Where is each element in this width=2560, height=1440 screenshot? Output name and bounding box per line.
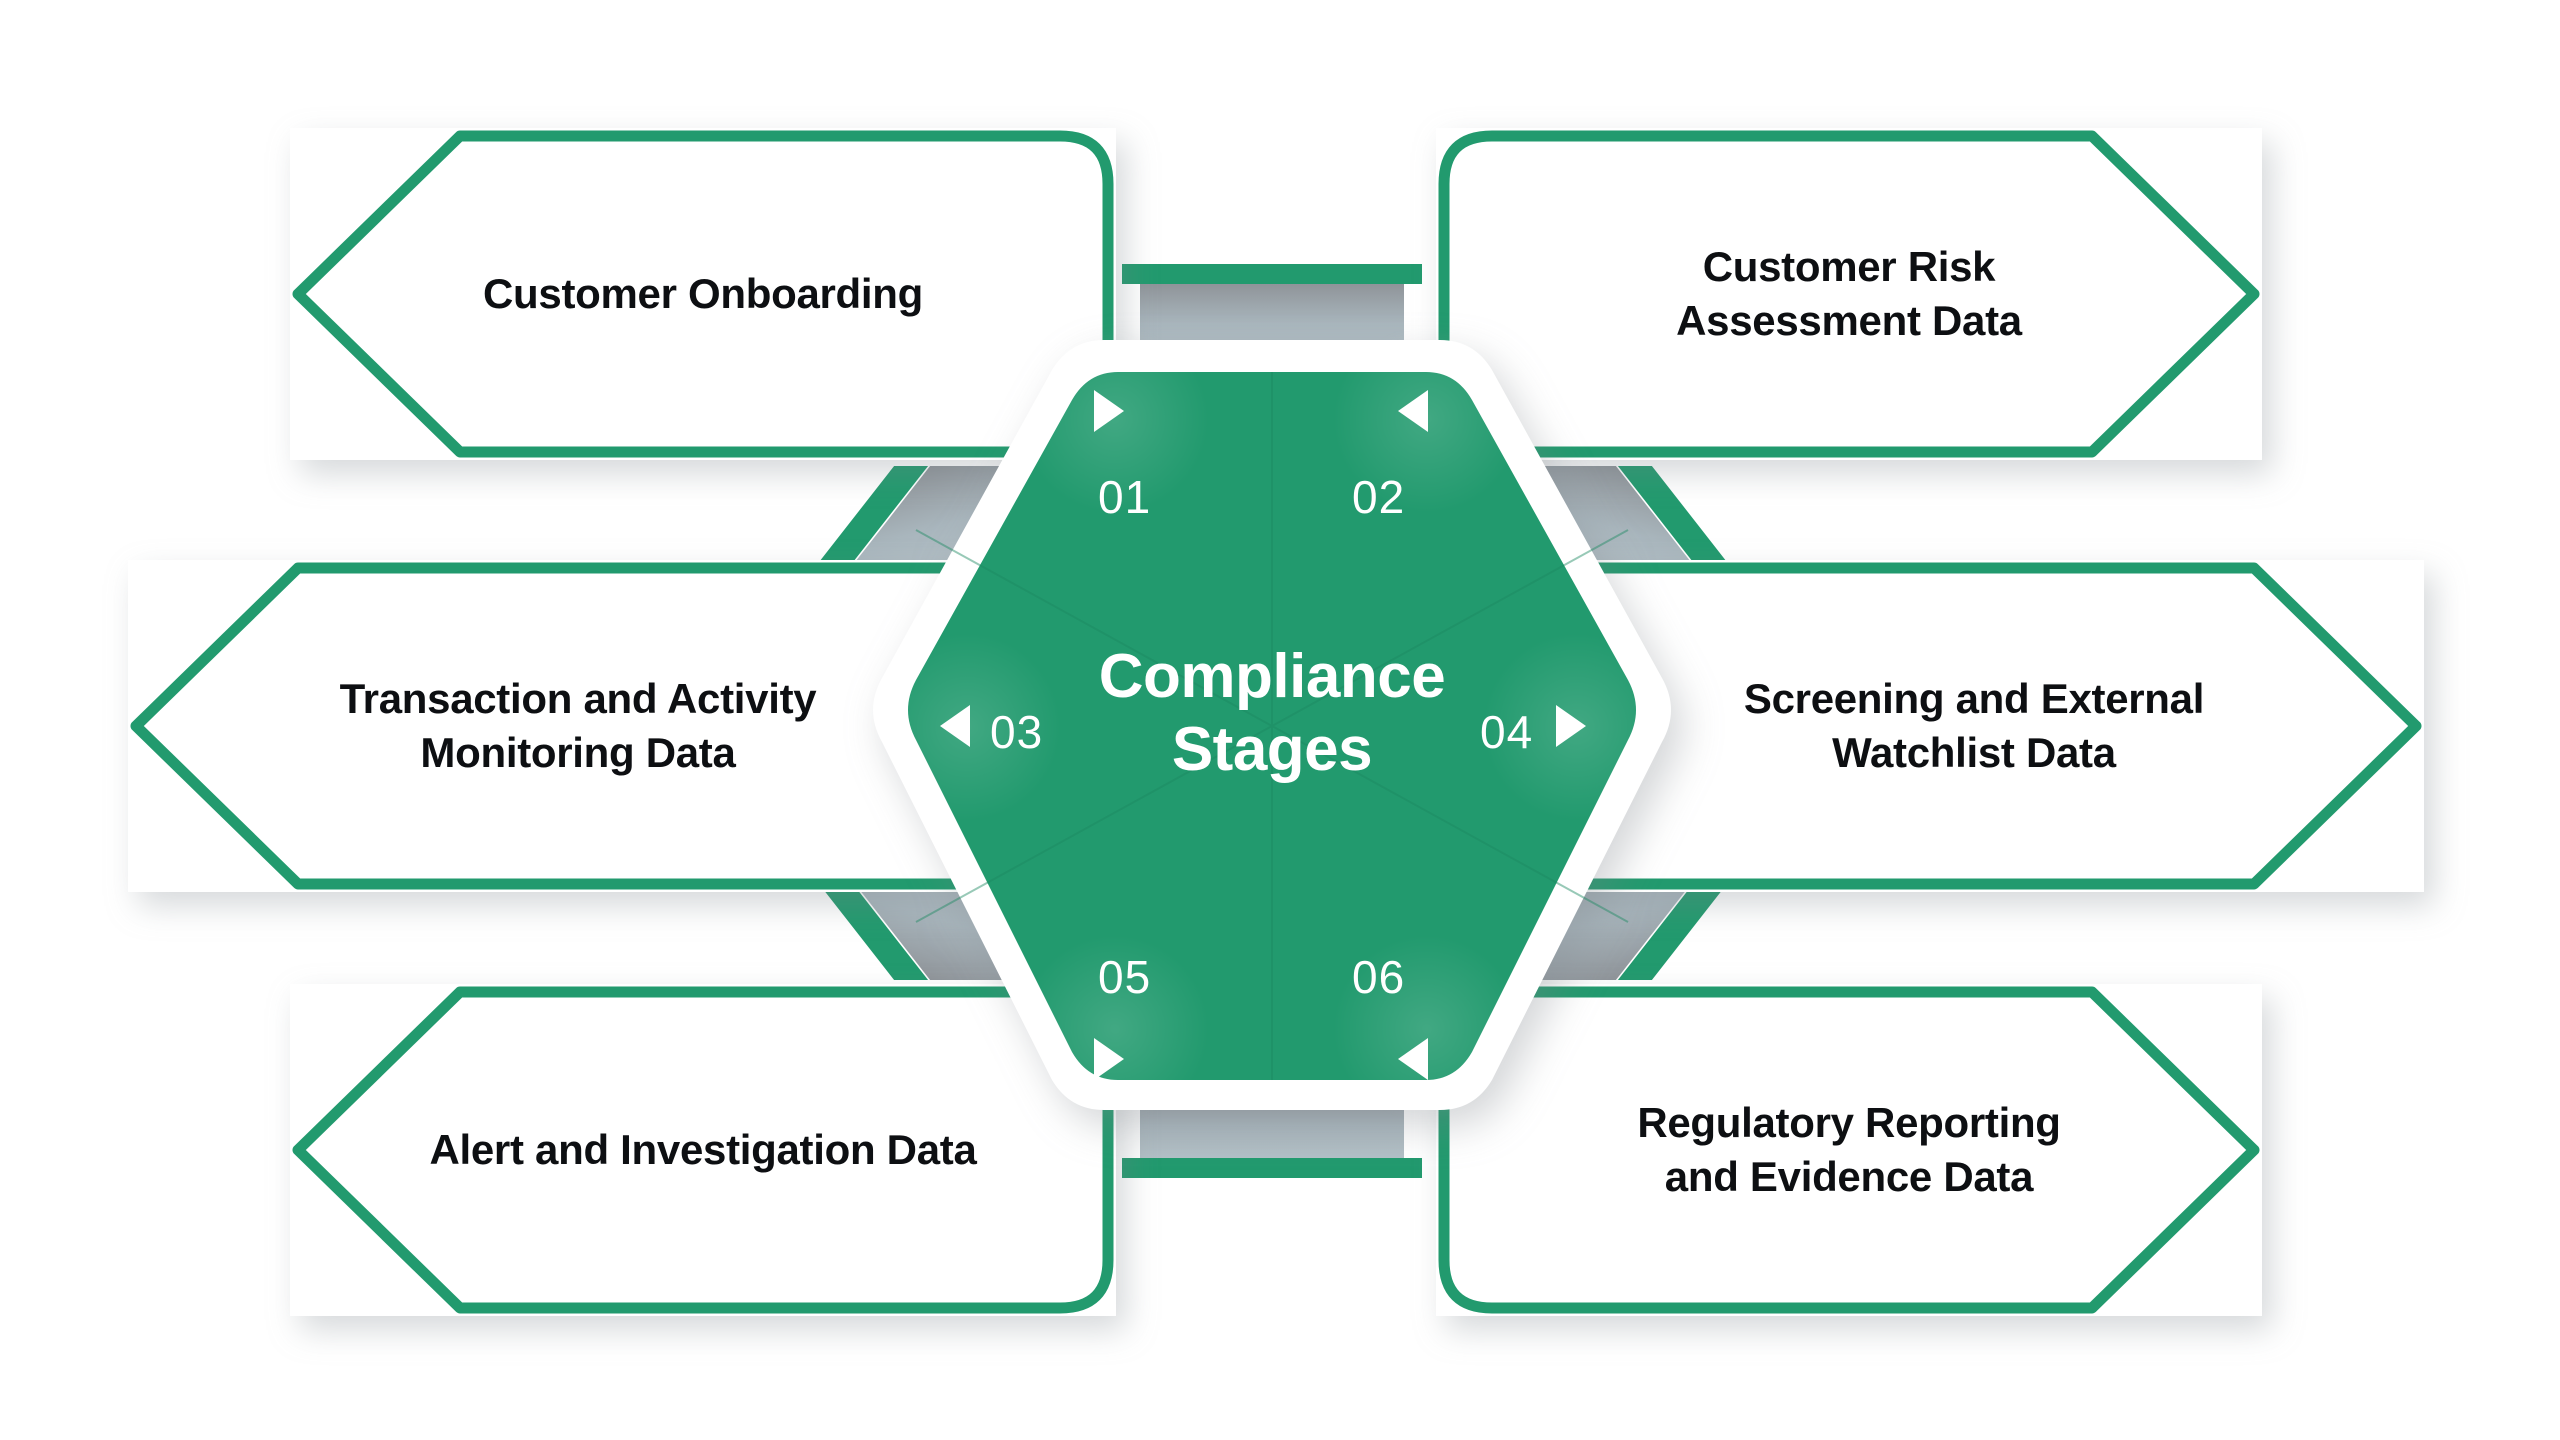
stage-chip-04-line1: Screening and External: [1744, 675, 2204, 722]
triangle-right-icon-04: [1556, 705, 1586, 747]
connector-top-green: [1122, 264, 1422, 284]
stage-number-06: 06: [1352, 950, 1405, 1004]
stage-number-02: 02: [1352, 470, 1405, 524]
stage-chip-03-label: Transaction and Activity Monitoring Data: [340, 672, 817, 780]
stage-number-05: 05: [1098, 950, 1151, 1004]
stage-chip-03-line1: Transaction and Activity: [340, 675, 817, 722]
stage-chip-03-line2: Monitoring Data: [420, 729, 735, 776]
hexagon-title: Compliance Stages: [1012, 640, 1532, 786]
triangle-left-icon-06: [1398, 1038, 1428, 1080]
stage-chip-06-line2: and Evidence Data: [1665, 1153, 2033, 1200]
triangle-right-icon-01: [1094, 390, 1124, 432]
stage-chip-04-line2: Watchlist Data: [1832, 729, 2116, 776]
stage-chip-05-label: Alert and Investigation Data: [429, 1123, 976, 1177]
triangle-right-icon-05: [1094, 1038, 1124, 1080]
stage-chip-02-label: Customer Risk Assessment Data: [1676, 240, 2022, 348]
stage-chip-02-line1: Customer Risk: [1703, 243, 1996, 290]
stage-chip-02-line2: Assessment Data: [1676, 297, 2022, 344]
connector-bottom-green: [1122, 1158, 1422, 1178]
central-hexagon[interactable]: 01 02 03 04 05 06 Compliance Stages: [842, 330, 1702, 1120]
triangle-left-icon-02: [1398, 390, 1428, 432]
hexagon-title-line2: Stages: [1172, 715, 1372, 784]
stage-chip-01-label: Customer Onboarding: [483, 267, 923, 321]
stage-chip-04-label: Screening and External Watchlist Data: [1744, 672, 2204, 780]
diagram-canvas: Customer Onboarding Customer Risk Assess…: [0, 0, 2560, 1440]
stage-number-01: 01: [1098, 470, 1151, 524]
triangle-left-icon-03: [940, 705, 970, 747]
hexagon-title-line1: Compliance: [1099, 642, 1445, 711]
